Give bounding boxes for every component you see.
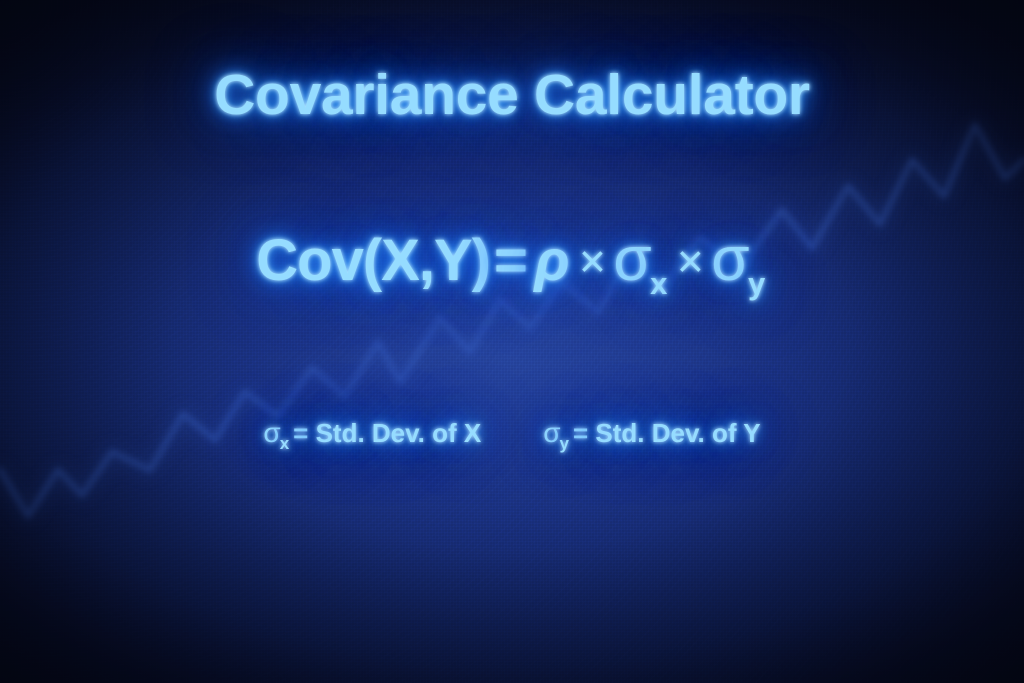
legend-sigma-x-symbol: σ bbox=[263, 417, 280, 448]
formula-equals-sign: = bbox=[494, 228, 528, 293]
formula-times-sign-2: × bbox=[670, 235, 711, 287]
page-title: Covariance Calculator bbox=[0, 62, 1024, 128]
legend-sigma-y-symbol: σ bbox=[543, 417, 560, 448]
screen: Covariance Calculator Cov(X,Y)=ρ×σx×σy σ… bbox=[0, 0, 1024, 683]
legend-sigma-x-subscript: x bbox=[280, 434, 289, 453]
formula-left-hand-side: Cov(X,Y) bbox=[256, 228, 490, 293]
formula-sigma-y-symbol: σ bbox=[711, 225, 750, 294]
formula-rho-symbol: ρ bbox=[532, 228, 572, 293]
formula-times-sign-1: × bbox=[572, 235, 613, 287]
legend-sigma-y-equals: = bbox=[573, 418, 588, 448]
legend-sigma-y-subscript: y bbox=[560, 434, 569, 453]
legend-sigma-x-description: Std. Dev. of X bbox=[316, 418, 482, 448]
covariance-formula: Cov(X,Y)=ρ×σx×σy bbox=[0, 224, 1024, 295]
legend: σx= Std. Dev. of X σy= Std. Dev. of Y bbox=[0, 417, 1024, 449]
legend-sigma-x-equals: = bbox=[293, 418, 308, 448]
formula-sigma-x-symbol: σ bbox=[613, 225, 652, 294]
formula-sigma-x-subscript: x bbox=[650, 266, 668, 301]
formula-sigma-y-subscript: y bbox=[748, 266, 766, 301]
legend-item-sigma-y: σy= Std. Dev. of Y bbox=[543, 417, 760, 449]
content-layer: Covariance Calculator Cov(X,Y)=ρ×σx×σy σ… bbox=[0, 0, 1024, 683]
legend-item-sigma-x: σx= Std. Dev. of X bbox=[263, 417, 481, 449]
legend-sigma-y-description: Std. Dev. of Y bbox=[595, 418, 760, 448]
